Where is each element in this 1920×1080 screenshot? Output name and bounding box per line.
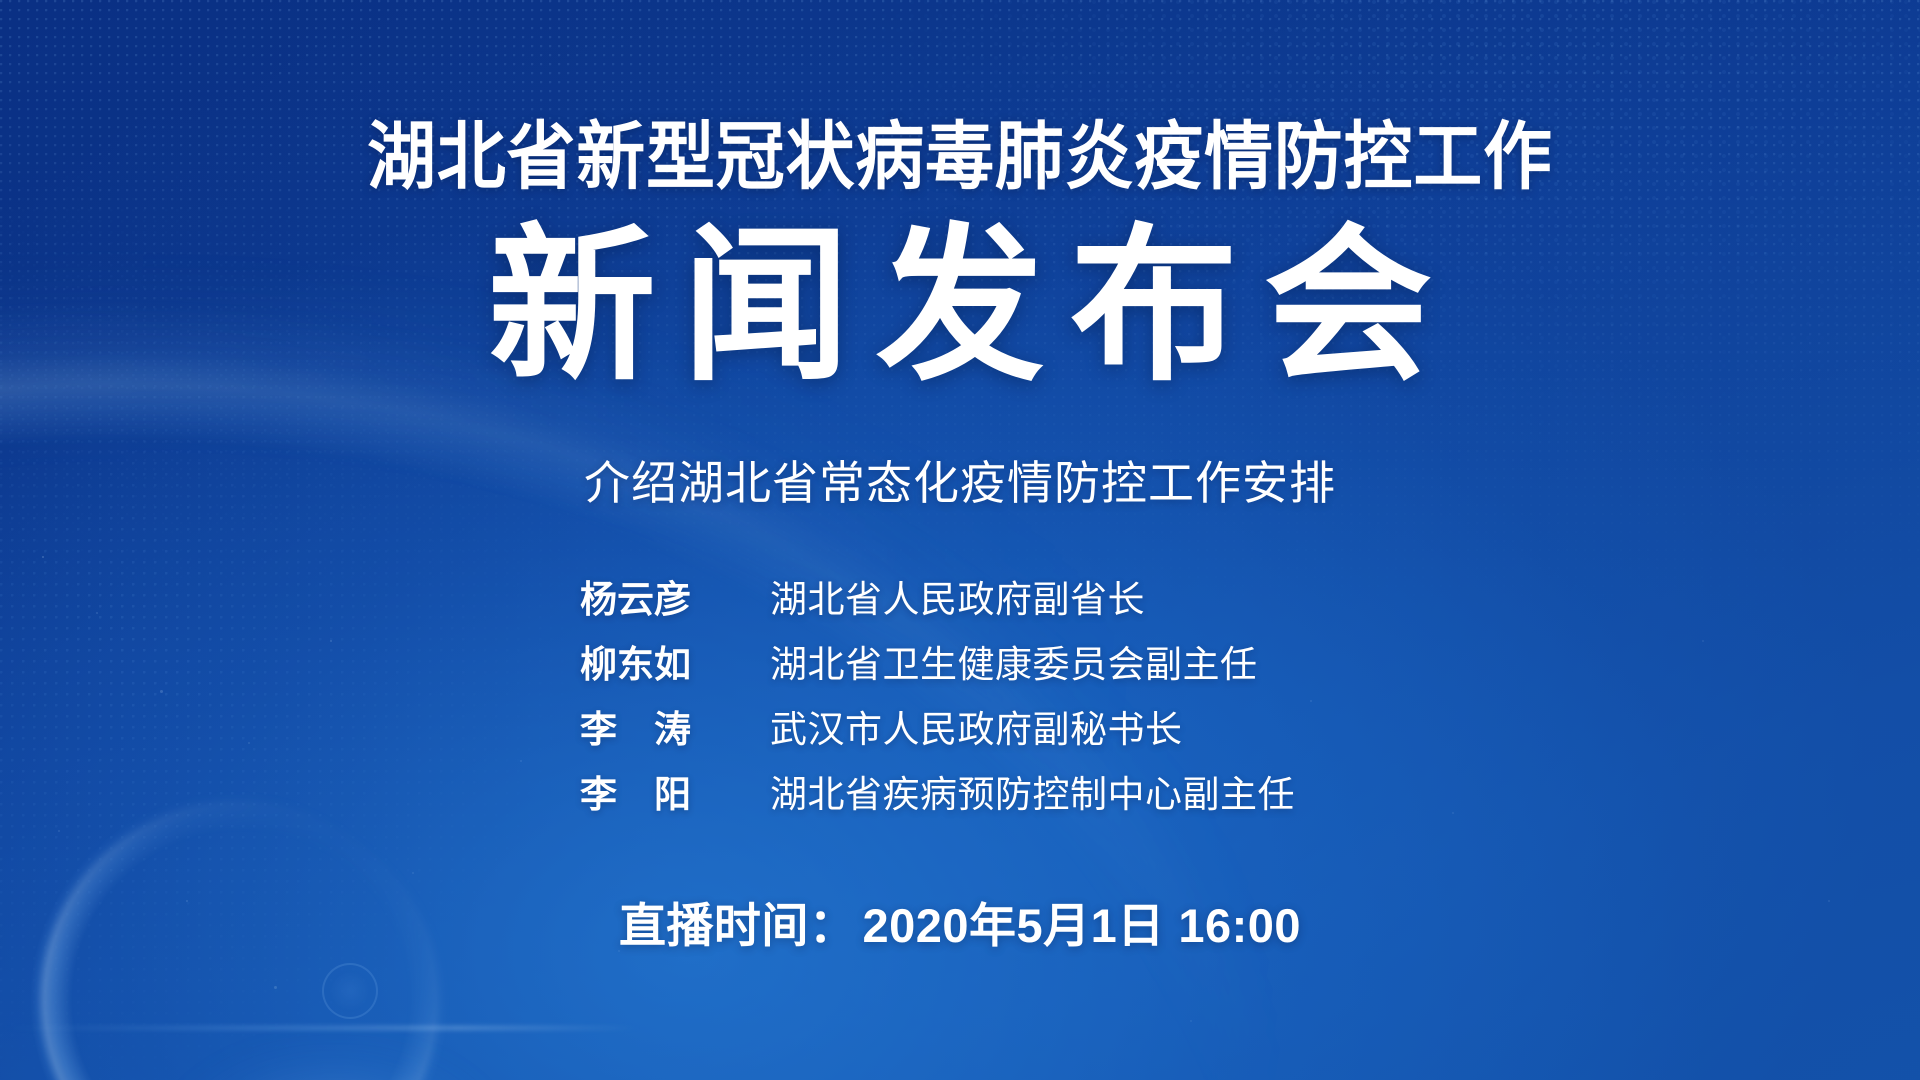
- page-title: 湖北省新型冠状病毒肺炎疫情防控工作: [67, 120, 1853, 194]
- poster-content: 湖北省新型冠状病毒肺炎疫情防控工作 新闻发布会 介绍湖北省常态化疫情防控工作安排…: [0, 0, 1920, 1080]
- speaker-row: 杨云彦 湖北省人民政府副省长: [0, 567, 1920, 632]
- speaker-name: 柳东如: [580, 632, 770, 697]
- live-time: 直播时间：2020年5月1日 16:00: [0, 902, 1920, 949]
- speaker-role: 武汉市人民政府副秘书长: [770, 697, 1340, 762]
- speaker-role: 湖北省人民政府副省长: [770, 567, 1340, 632]
- speaker-row: 李 涛 武汉市人民政府副秘书长: [0, 697, 1920, 762]
- press-conference-poster: 湖北省新型冠状病毒肺炎疫情防控工作 新闻发布会 介绍湖北省常态化疫情防控工作安排…: [0, 0, 1920, 1080]
- speaker-list: 杨云彦 湖北省人民政府副省长 柳东如 湖北省卫生健康委员会副主任 李 涛 武汉市…: [0, 567, 1920, 827]
- speaker-row: 柳东如 湖北省卫生健康委员会副主任: [0, 632, 1920, 697]
- speaker-role: 湖北省卫生健康委员会副主任: [770, 632, 1340, 697]
- speaker-name: 李 涛: [580, 697, 770, 762]
- live-time-label: 直播时间：: [619, 899, 857, 952]
- speaker-role: 湖北省疾病预防控制中心副主任: [770, 762, 1340, 827]
- live-time-value: 2020年5月1日 16:00: [856, 899, 1301, 952]
- speaker-row: 李 阳 湖北省疾病预防控制中心副主任: [0, 762, 1920, 827]
- speaker-name: 杨云彦: [580, 567, 770, 632]
- subtitle: 介绍湖北省常态化疫情防控工作安排: [0, 460, 1920, 506]
- headline: 新闻发布会: [0, 222, 1920, 390]
- speaker-name: 李 阳: [580, 762, 770, 827]
